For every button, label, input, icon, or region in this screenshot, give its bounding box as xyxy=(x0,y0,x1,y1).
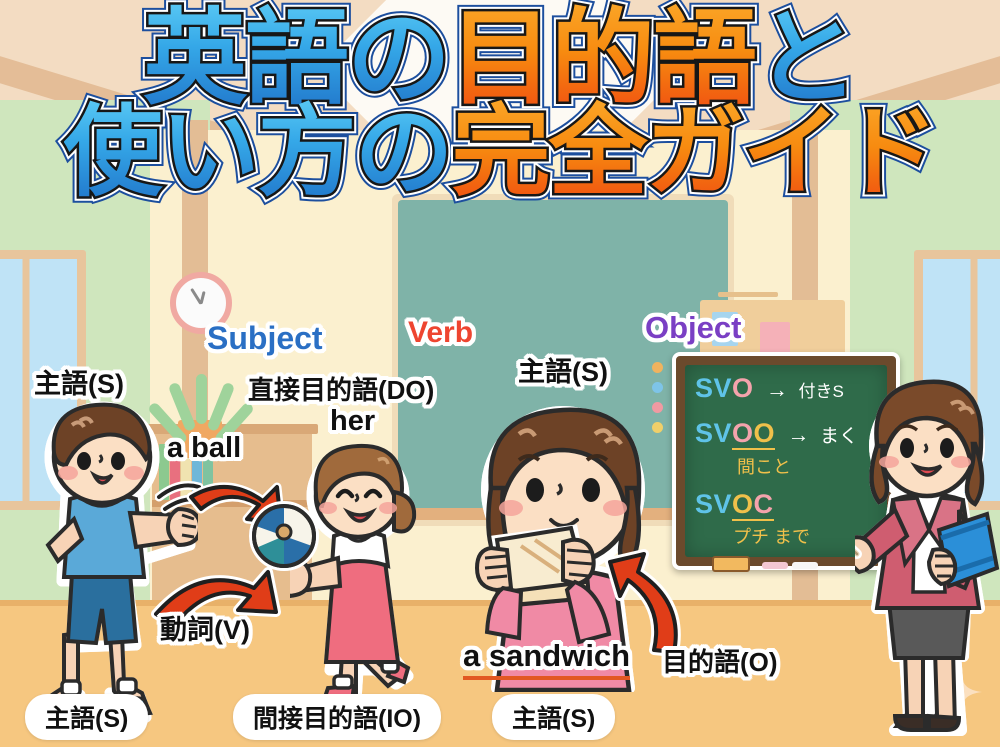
title-line-2-fill: 使い方の完全ガイド xyxy=(64,95,937,210)
poster-canvas: 英語の目的語と 英語の目的語と 英語の目的語と 英語の目的語と 使い方の完全ガイ… xyxy=(0,0,1000,747)
label-girl-subject: 主語(S) xyxy=(518,350,608,389)
role-header-object: Object xyxy=(645,310,741,346)
role-header-subject: Subject xyxy=(207,320,323,357)
character-girl-catcher xyxy=(290,438,430,708)
blackboard-row-2-sub-text: 間こと xyxy=(737,457,791,477)
chalk-white xyxy=(792,562,818,569)
blackboard-row-3: SVOC xyxy=(695,489,881,520)
label-a-sandwich: a sandwich xyxy=(463,638,630,680)
bottom-pill-subject-left: 主語(S) xyxy=(25,694,148,740)
blackboard-row-3-code: SVOC xyxy=(695,489,774,521)
poster-title: 英語の目的語と 英語の目的語と 英語の目的語と 英語の目的語と 使い方の完全ガイ… xyxy=(0,8,1000,201)
blackboard-row-3-sub-text: プチ まで xyxy=(733,527,810,547)
decor-dot xyxy=(652,362,663,373)
blackboard-row-2: SVOO → まく xyxy=(695,418,881,449)
role-header-verb: Verb xyxy=(408,316,473,350)
blackboard-eraser xyxy=(712,556,750,572)
label-boy-subject: 主語(S) xyxy=(34,362,124,401)
chalk-pink xyxy=(762,562,788,569)
blackboard-row-1-code: SVO xyxy=(695,373,754,403)
blackboard-row-2-code: SVOO xyxy=(695,418,775,450)
label-a-ball: a ball xyxy=(167,432,241,465)
label-verb-jp: 動詞(V) xyxy=(160,608,250,647)
character-teacher xyxy=(855,378,1000,740)
label-direct-object-jp: 直接目的語(DO) xyxy=(248,370,434,407)
blackboard-row-1: SVO → 付きS xyxy=(695,373,881,404)
blackboard-row-1-arrow: → xyxy=(766,377,788,402)
bottom-pill-subject-right: 主語(S) xyxy=(492,694,615,740)
label-direct-object-en: her xyxy=(330,405,375,438)
blackboard-row-2-note: まく xyxy=(820,426,858,447)
beach-ball xyxy=(248,500,320,572)
poster-pink xyxy=(760,322,790,356)
bottom-pill-indirect-object: 間接目的語(IO) xyxy=(233,694,441,740)
cabinet-ledge xyxy=(718,292,778,297)
label-object-jp: 目的語(O) xyxy=(662,642,778,679)
title-line-2: 使い方の完全ガイド 使い方の完全ガイド 使い方の完全ガイド 使い方の完全ガイド xyxy=(0,104,1000,201)
blackboard-row-2-arrow: → xyxy=(788,422,810,447)
blackboard-row-1-note: 付きS xyxy=(798,382,843,401)
